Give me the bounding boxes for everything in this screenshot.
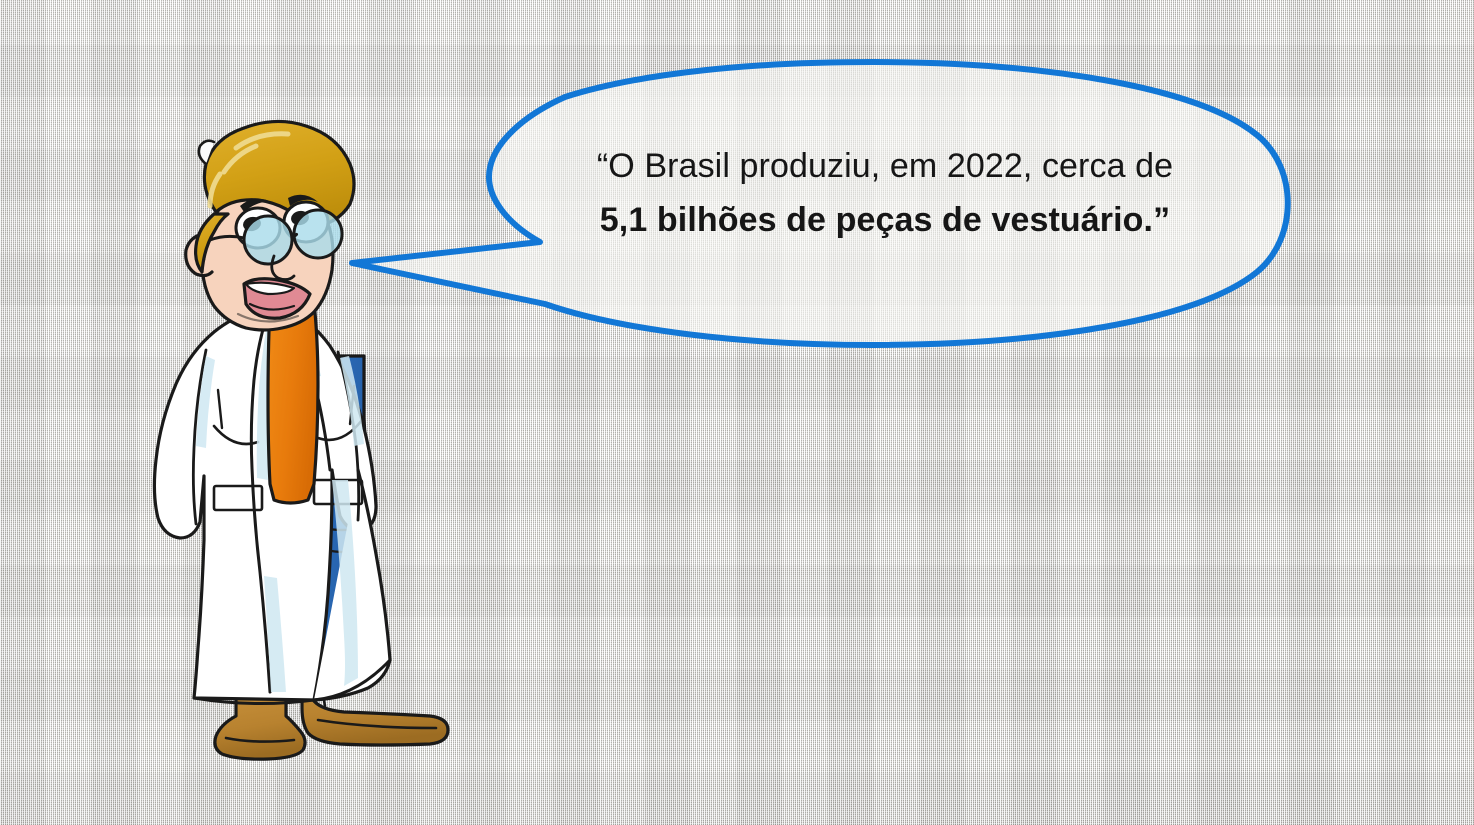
cartoon-scientist: [118, 88, 468, 788]
illustration-scene: “O Brasil produziu, em 2022, cerca de 5,…: [0, 0, 1474, 825]
orange-shirt: [268, 302, 318, 503]
speech-line-2: 5,1 bilhões de peças de vestuário.”: [505, 196, 1265, 244]
speech-bubble-text: “O Brasil produziu, em 2022, cerca de 5,…: [505, 142, 1265, 245]
speech-line-1: “O Brasil produziu, em 2022, cerca de: [505, 142, 1265, 190]
speech-bubble-shape: [352, 62, 1288, 345]
